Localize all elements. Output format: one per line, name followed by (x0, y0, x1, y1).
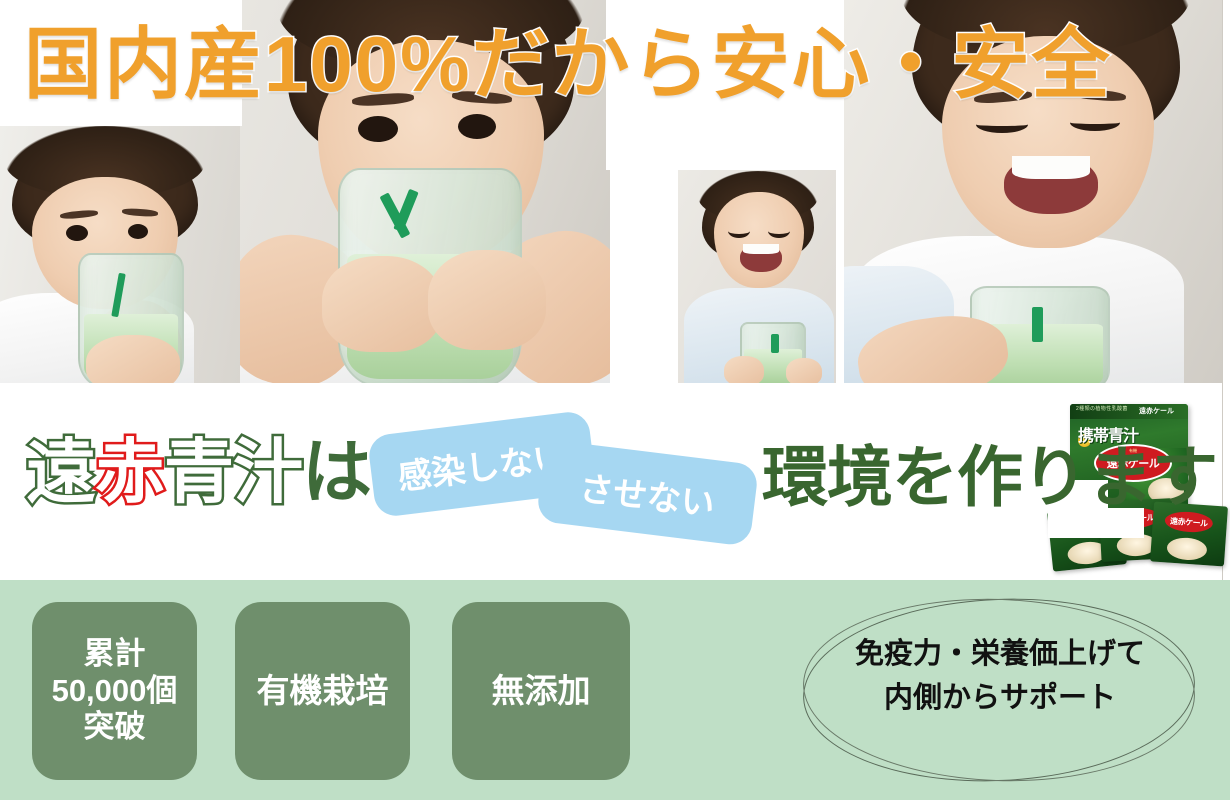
features-section: 累計 50,000個 突破 有機栽培 無添加 免疫力・栄養価上げて 内側からサポ… (0, 580, 1230, 800)
callout-ellipse-group: 免疫力・栄養価上げて 内側からサポート (795, 585, 1205, 795)
callout-line-1: 免疫力・栄養価上げて (795, 633, 1205, 677)
feature-chip-line: 突破 (52, 709, 178, 746)
feature-chip-line: 無添加 (492, 672, 591, 711)
hero-photo-child-drinking-center (240, 0, 610, 383)
hero-photo-child-smiling-small (678, 170, 836, 383)
headline-backdrop-gap (606, 0, 678, 170)
sachet-label: 遠赤ケール (1170, 515, 1208, 529)
feature-chip-no-additives: 無添加 (452, 602, 630, 780)
headline-backdrop-left (0, 0, 242, 126)
product-box-top-brand: 遠赤ケール (1139, 406, 1174, 416)
right-hairline (1222, 0, 1223, 580)
product-box-top-strip: 2種類の植物性乳酸菌 遠赤ケール (1070, 404, 1188, 419)
feature-chip-line: 50,000個 (52, 673, 178, 710)
callout-text: 免疫力・栄養価上げて 内側からサポート (795, 633, 1205, 720)
brand-part-2: 赤 (95, 433, 164, 511)
callout-line-2: 内側からサポート (795, 677, 1205, 721)
brand-tagline: 遠赤青汁は (26, 437, 371, 507)
hero-photo-child-drinking-left (0, 125, 240, 383)
hero-photo-child-smiling-right (844, 0, 1222, 383)
right-white-edge (1222, 0, 1230, 580)
hero-photo-collage (0, 0, 1230, 384)
promo-banner: 国内産100%だから安心・安全 遠赤青汁は 感染しない させない 環境を作ります… (0, 0, 1230, 800)
tagline-suffix: 環境を作ります (762, 444, 1217, 510)
feature-chip-organic-cultivation: 有機栽培 (235, 602, 410, 780)
brand-part-3: 青汁 (164, 433, 302, 511)
feature-chip-cumulative-sales: 累計 50,000個 突破 (32, 602, 197, 780)
brand-particle: は (302, 433, 371, 511)
product-box-top-small: 2種類の植物性乳酸菌 (1076, 405, 1128, 412)
brand-part-1: 遠 (26, 433, 95, 511)
feature-chip-line: 有機栽培 (257, 672, 389, 711)
badge-no-spread-label: させない (577, 460, 718, 525)
sachet-bowl-graphic (1166, 537, 1207, 562)
feature-chip-line: 累計 (52, 636, 178, 673)
